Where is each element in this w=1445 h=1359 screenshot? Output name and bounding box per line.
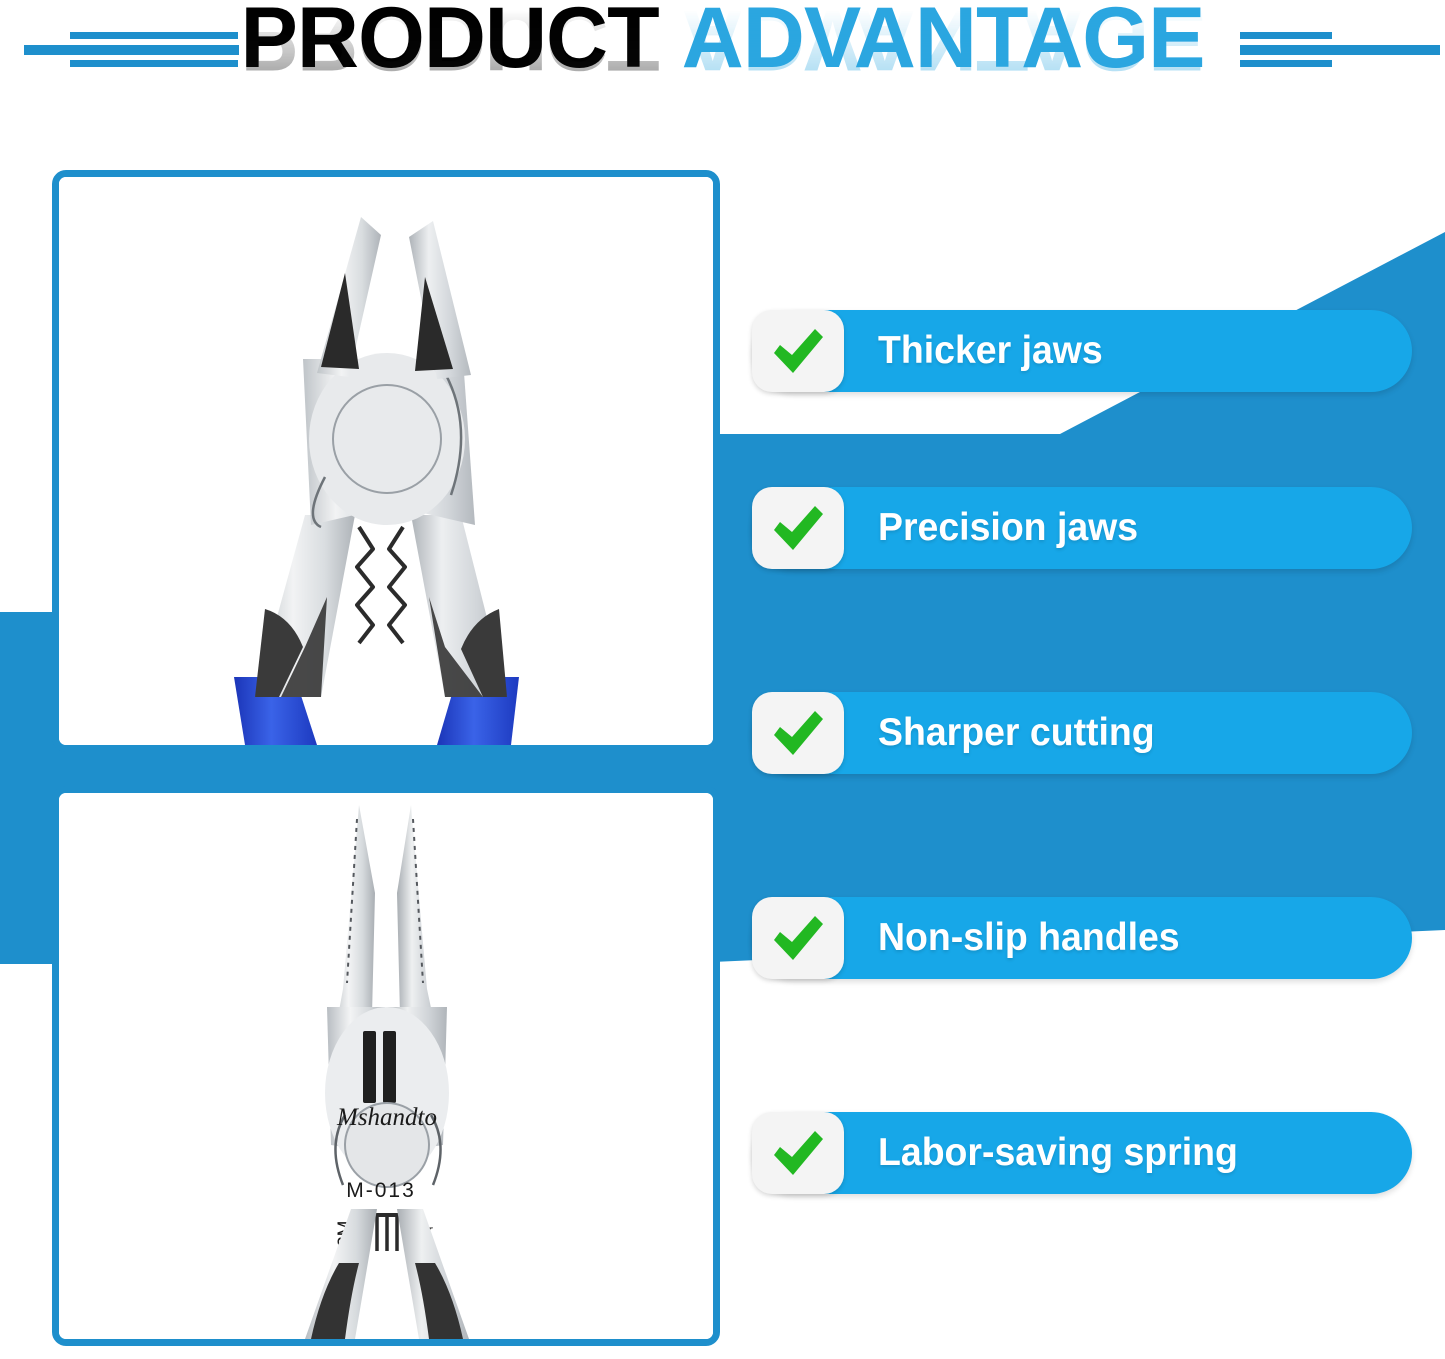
green-check-icon — [752, 1112, 844, 1194]
product-photo-frame-bottom: Mshandto M-013 23M M — [52, 786, 720, 1346]
brand-engraving: Mshandto — [336, 1104, 437, 1131]
feature-label: Labor-saving spring — [878, 1133, 1238, 1173]
green-check-icon — [752, 692, 844, 774]
product-advantage-infographic: PRODUCT ADVANTAGE PRODUCT ADVANTAGE — [0, 0, 1445, 1359]
green-check-icon — [752, 310, 844, 392]
feature-label: Thicker jaws — [878, 331, 1103, 371]
feature-label: Precision jaws — [878, 508, 1138, 548]
feature-item-precision-jaws[interactable]: Precision jaws — [752, 487, 1412, 569]
flush-cutter-pliers-photo — [59, 177, 713, 745]
feature-item-sharper-cutting[interactable]: Sharper cutting — [752, 692, 1412, 774]
page-title-reflection: PRODUCT ADVANTAGE — [240, 4, 1204, 76]
green-check-icon — [752, 897, 844, 979]
green-check-icon — [752, 487, 844, 569]
page-title-reflection-part-one: PRODUCT — [240, 0, 658, 88]
feature-item-thicker-jaws[interactable]: Thicker jaws — [752, 310, 1412, 392]
feature-item-labor-saving-spring[interactable]: Labor-saving spring — [752, 1112, 1412, 1194]
feature-label: Non-slip handles — [878, 918, 1180, 958]
model-engraving: M-013 — [346, 1179, 416, 1202]
page-header: PRODUCT ADVANTAGE PRODUCT ADVANTAGE — [0, 0, 1445, 150]
feature-item-non-slip-handles[interactable]: Non-slip handles — [752, 897, 1412, 979]
page-title-reflection-part-two: ADVANTAGE — [682, 0, 1205, 88]
product-photo-frame-top — [52, 170, 720, 752]
needle-nose-pliers-photo: Mshandto M-013 23M M — [59, 793, 713, 1339]
feature-label: Sharper cutting — [878, 713, 1155, 753]
